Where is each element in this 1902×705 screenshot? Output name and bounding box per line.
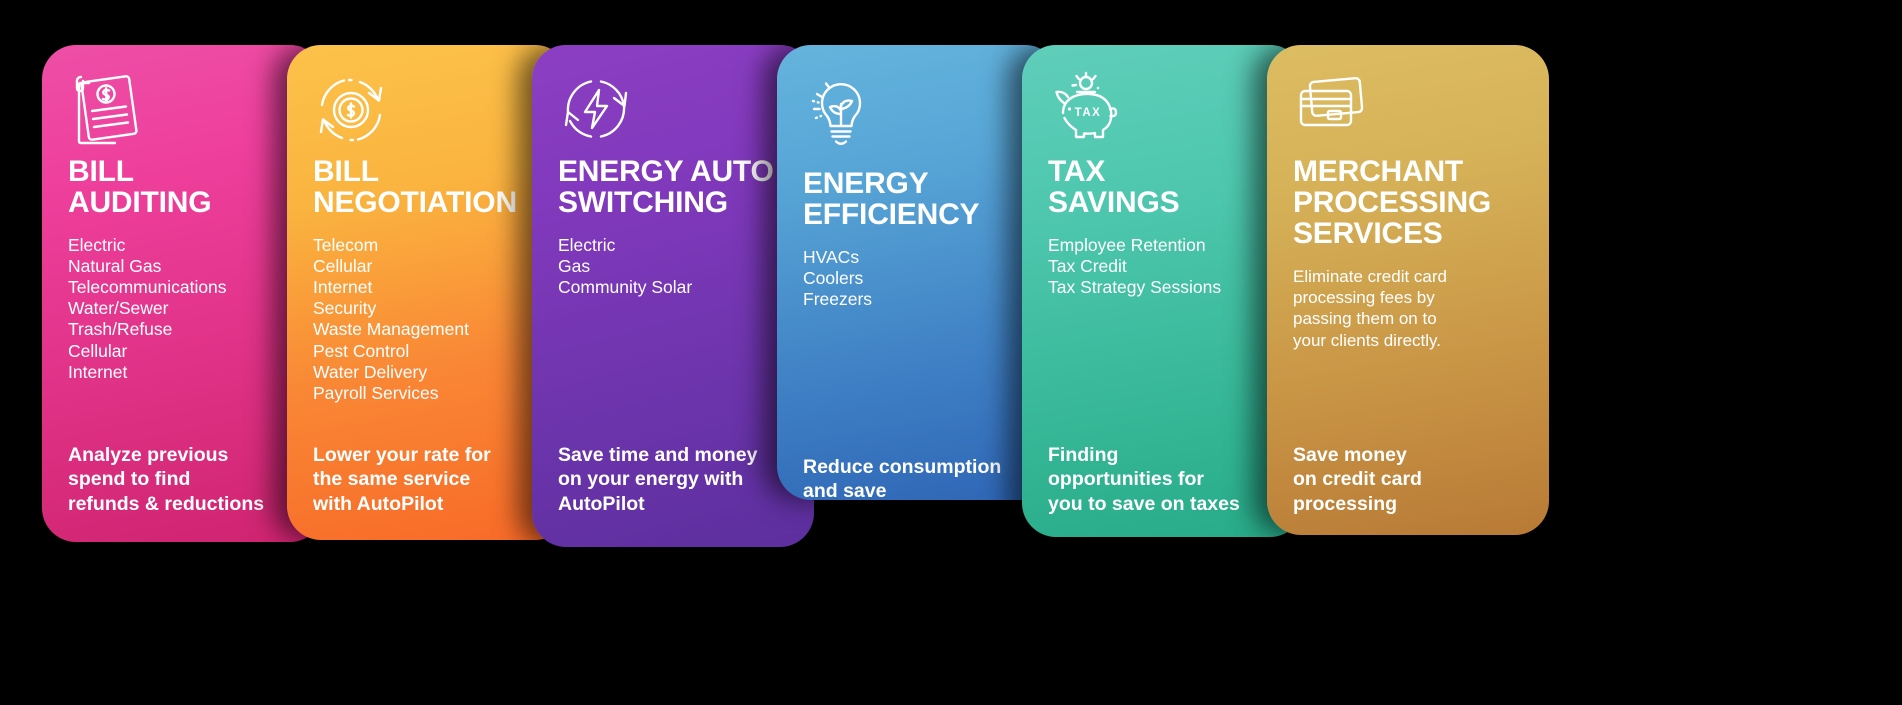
- list-item: Telecom: [313, 235, 569, 256]
- list-item: Tax Credit: [1048, 256, 1304, 277]
- card-service-list: Electric Natural Gas Telecommunications …: [68, 235, 324, 383]
- service-card-tax-savings[interactable]: TAX TAX SAVINGS Employee Retention Tax C…: [1022, 45, 1304, 537]
- card-description: Eliminate credit card processing fees by…: [1293, 266, 1549, 352]
- list-item: Internet: [313, 277, 569, 298]
- card-tagline: Finding opportunities for you to save on…: [1048, 443, 1294, 518]
- list-item: Community Solar: [558, 277, 814, 298]
- card-title: MERCHANT PROCESSING SERVICES: [1293, 157, 1549, 250]
- credit-cards-icon: [1293, 71, 1549, 157]
- invoice-dollar-icon: [68, 71, 324, 157]
- list-item: Tax Strategy Sessions: [1048, 277, 1304, 298]
- lightning-bolt-refresh-icon: [558, 71, 814, 157]
- card-tagline: Reduce consumption and save: [803, 455, 1049, 501]
- list-item: Electric: [68, 235, 324, 256]
- service-cards-panel: BILL AUDITING Electric Natural Gas Telec…: [0, 0, 1902, 705]
- list-item: Freezers: [803, 289, 1059, 310]
- card-content: ENERGY EFFICIENCY HVACs Coolers Freezers…: [777, 45, 1059, 500]
- card-content: ENERGY AUTO SWITCHING Electric Gas Commu…: [532, 45, 814, 547]
- card-service-list: Employee Retention Tax Credit Tax Strate…: [1048, 235, 1304, 299]
- card-title: ENERGY AUTO SWITCHING: [558, 157, 814, 219]
- piggy-bank-tax-icon: TAX: [1048, 71, 1304, 157]
- list-item: HVACs: [803, 247, 1059, 268]
- list-item: Natural Gas: [68, 256, 324, 277]
- list-item: Waste Management: [313, 319, 569, 340]
- list-item: Water/Sewer: [68, 298, 324, 319]
- service-card-energy-auto-switching[interactable]: ENERGY AUTO SWITCHING Electric Gas Commu…: [532, 45, 814, 547]
- service-card-bill-auditing[interactable]: BILL AUDITING Electric Natural Gas Telec…: [42, 45, 324, 542]
- card-title: ENERGY EFFICIENCY: [803, 169, 1059, 231]
- card-content: BILL AUDITING Electric Natural Gas Telec…: [42, 45, 324, 542]
- service-card-energy-efficiency[interactable]: ENERGY EFFICIENCY HVACs Coolers Freezers…: [777, 45, 1059, 500]
- card-tagline: Save time and money on your energy with …: [558, 443, 804, 518]
- card-title: TAX SAVINGS: [1048, 157, 1304, 219]
- card-tagline: Save money on credit card processing: [1293, 443, 1539, 518]
- card-title: BILL NEGOTIATION: [313, 157, 569, 219]
- list-item: Cellular: [68, 341, 324, 362]
- card-tagline: Analyze previous spend to find refunds &…: [68, 443, 314, 518]
- card-content: MERCHANT PROCESSING SERVICES Eliminate c…: [1267, 45, 1549, 535]
- service-card-bill-negotiation[interactable]: BILL NEGOTIATION Telecom Cellular Intern…: [287, 45, 569, 540]
- list-item: Telecommunications: [68, 277, 324, 298]
- dollar-refresh-cycle-icon: [313, 71, 569, 157]
- card-title: BILL AUDITING: [68, 157, 324, 219]
- list-item: Pest Control: [313, 341, 569, 362]
- card-content: BILL NEGOTIATION Telecom Cellular Intern…: [287, 45, 569, 540]
- card-content: TAX TAX SAVINGS Employee Retention Tax C…: [1022, 45, 1304, 537]
- list-item: Employee Retention: [1048, 235, 1304, 256]
- card-service-list: Telecom Cellular Internet Security Waste…: [313, 235, 569, 404]
- list-item: Internet: [68, 362, 324, 383]
- card-service-list: Electric Gas Community Solar: [558, 235, 814, 299]
- card-tagline: Lower your rate for the same service wit…: [313, 443, 559, 518]
- list-item: Payroll Services: [313, 383, 569, 404]
- card-service-list: HVACs Coolers Freezers: [803, 247, 1059, 311]
- svg-text:TAX: TAX: [1075, 107, 1102, 119]
- service-card-merchant-processing-services[interactable]: MERCHANT PROCESSING SERVICES Eliminate c…: [1267, 45, 1549, 535]
- list-item: Electric: [558, 235, 814, 256]
- list-item: Security: [313, 298, 569, 319]
- list-item: Coolers: [803, 268, 1059, 289]
- list-item: Water Delivery: [313, 362, 569, 383]
- list-item: Gas: [558, 256, 814, 277]
- list-item: Trash/Refuse: [68, 319, 324, 340]
- list-item: Cellular: [313, 256, 569, 277]
- lightbulb-leaf-icon: [803, 71, 1059, 157]
